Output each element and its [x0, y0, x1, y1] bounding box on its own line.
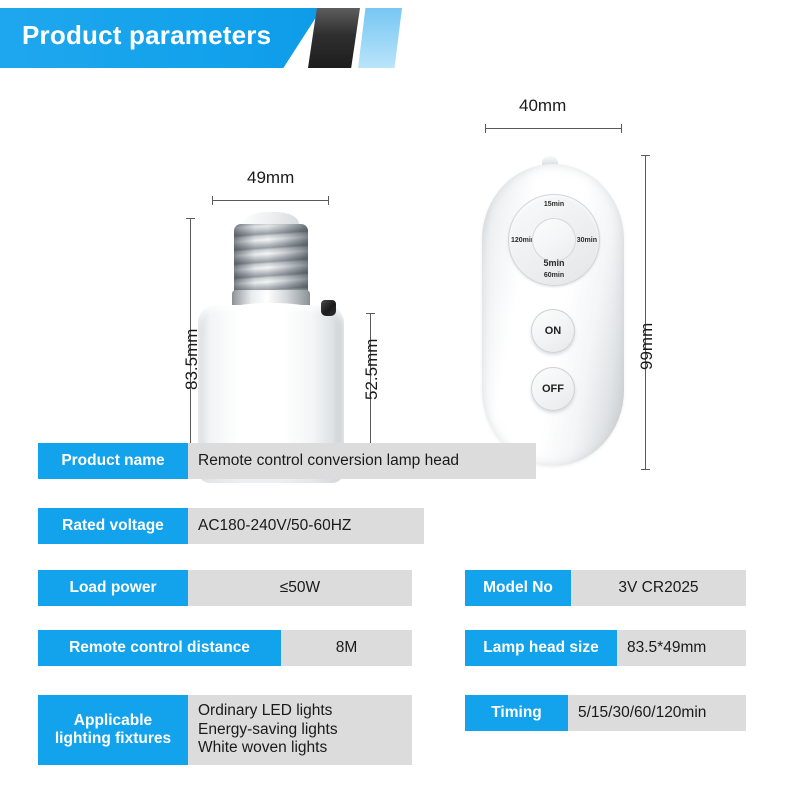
spec-key-load-power: Load power — [38, 570, 188, 606]
spec-value-timing: 5/15/30/60/120min — [568, 695, 746, 731]
page-header: Product parameters — [0, 8, 800, 68]
product-photo-area: 49mm 83.5mm 52.5mm 40mm 99mm 15min 120mi… — [0, 70, 800, 430]
spec-row-rated-voltage: Rated voltage AC180-240V/50-60HZ — [38, 508, 424, 544]
spec-key-lamp-head-size: Lamp head size — [465, 630, 617, 666]
remote-width-dim-label: 40mm — [519, 96, 566, 116]
spec-row-product-name: Product name Remote control conversion l… — [38, 443, 536, 479]
remote-on-button[interactable]: ON — [531, 309, 575, 353]
spec-row-applicable-fixtures: Applicable lighting fixtures Ordinary LE… — [38, 695, 412, 765]
lamp-ir-sensor-icon — [321, 300, 336, 316]
page-title: Product parameters — [22, 20, 271, 51]
spec-value-rated-voltage: AC180-240V/50-60HZ — [188, 508, 424, 544]
spec-key-applicable-fixtures: Applicable lighting fixtures — [38, 695, 188, 765]
spec-row-lamp-head-size: Lamp head size 83.5*49mm — [465, 630, 746, 666]
spec-value-model-no: 3V CR2025 — [571, 570, 746, 606]
spec-row-load-power: Load power ≤50W — [38, 570, 412, 606]
spec-key-product-name: Product name — [38, 443, 188, 479]
spec-row-timing: Timing 5/15/30/60/120min — [465, 695, 746, 731]
remote-off-button[interactable]: OFF — [531, 367, 575, 411]
header-stripe-light — [358, 8, 402, 68]
remote-width-dim-line — [485, 128, 622, 129]
spec-key-timing: Timing — [465, 695, 568, 731]
remote-control-photo: 15min 120min 30min 60min 5min ON OFF — [482, 156, 624, 468]
spec-value-product-name: Remote control conversion lamp head — [188, 443, 536, 479]
timer-button-60min[interactable]: 60min — [508, 272, 600, 279]
timer-button-5min-center[interactable]: 5min — [532, 218, 576, 262]
timer-button-15min[interactable]: 15min — [508, 201, 600, 208]
spec-key-remote-distance: Remote control distance — [38, 630, 281, 666]
lamp-body-height-dim-label: 52.5mm — [362, 339, 382, 400]
spec-row-model-no: Model No 3V CR2025 — [465, 570, 746, 606]
lamp-head-photo — [196, 140, 346, 485]
spec-value-applicable-fixtures: Ordinary LED lights Energy-saving lights… — [188, 695, 412, 765]
spec-key-model-no: Model No — [465, 570, 571, 606]
remote-timer-dial[interactable]: 15min 120min 30min 60min 5min — [508, 194, 600, 286]
lamp-e27-screw-thread — [234, 224, 308, 296]
remote-height-dim-label: 99mm — [637, 323, 657, 370]
spec-key-rated-voltage: Rated voltage — [38, 508, 188, 544]
spec-value-remote-distance: 8M — [281, 630, 412, 666]
remote-height-dim-line — [645, 155, 646, 470]
spec-value-load-power: ≤50W — [188, 570, 412, 606]
spec-value-lamp-head-size: 83.5*49mm — [617, 630, 746, 666]
timer-button-5min-label: 5min — [532, 258, 576, 268]
timer-button-30min[interactable]: 30min — [577, 237, 597, 244]
spec-row-remote-distance: Remote control distance 8M — [38, 630, 412, 666]
header-stripe-dark — [308, 8, 360, 68]
